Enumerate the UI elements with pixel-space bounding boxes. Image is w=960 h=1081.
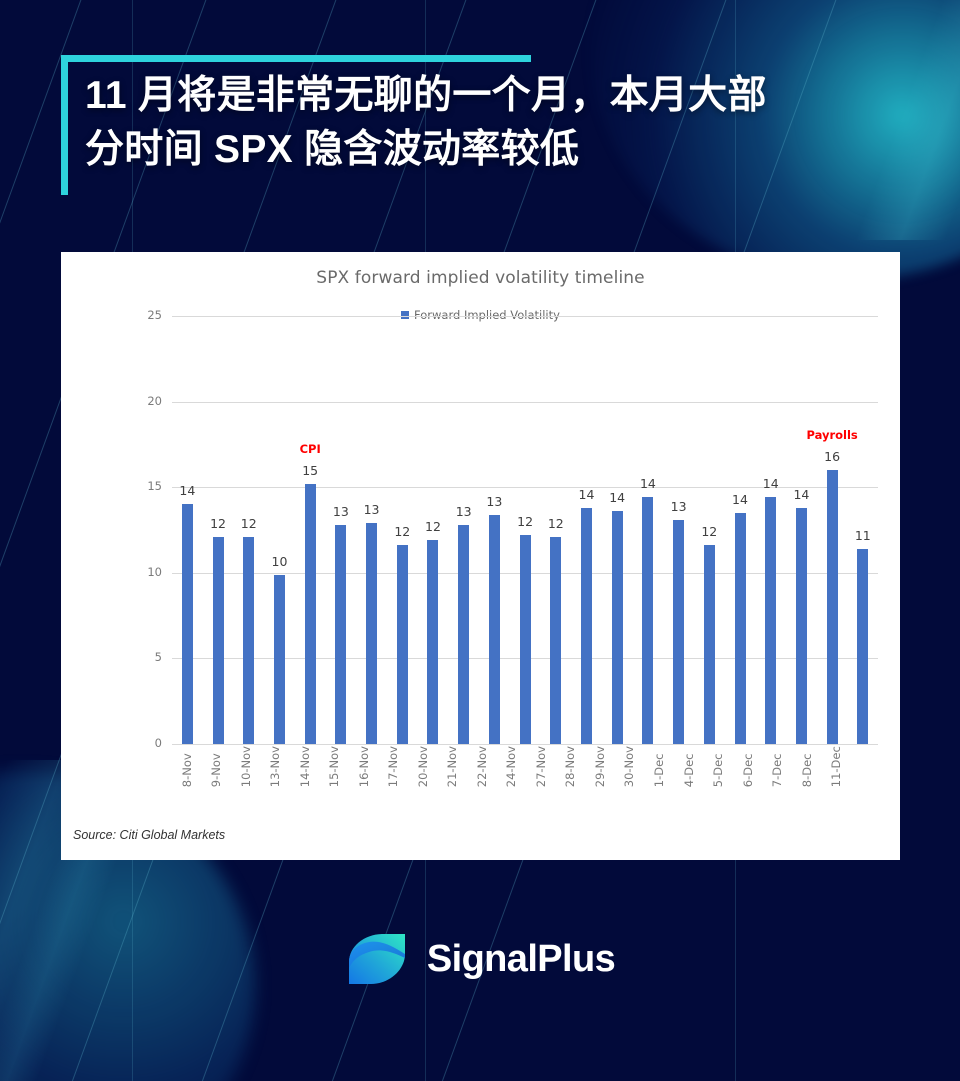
bar-slot[interactable]: 14	[725, 316, 756, 744]
bar-slot[interactable]: 14	[755, 316, 786, 744]
bar[interactable]	[427, 540, 438, 744]
x-axis-tick-label: 15-Nov	[320, 746, 350, 787]
bar[interactable]	[520, 535, 531, 744]
bar[interactable]	[213, 537, 224, 744]
bar[interactable]	[612, 511, 623, 744]
bar-value-label: 14	[732, 492, 748, 507]
bar-value-label: 13	[486, 494, 502, 509]
bar[interactable]	[397, 545, 408, 744]
bar-slot[interactable]: 12	[540, 316, 571, 744]
accent-bar-top	[61, 55, 531, 62]
x-axis-tick-label: 14-Nov	[290, 746, 320, 787]
bar[interactable]	[673, 520, 684, 744]
bar[interactable]	[735, 513, 746, 744]
x-axis-tick-label: 21-Nov	[438, 746, 468, 787]
x-axis-tick-label: 16-Nov	[349, 746, 379, 787]
brand-footer: SignalPlus	[0, 928, 960, 990]
chart-source-note: Source: Citi Global Markets	[73, 828, 225, 842]
bar-value-label: 14	[793, 487, 809, 502]
y-axis-tick-label: 25	[110, 308, 162, 322]
bar-value-label: 14	[179, 483, 195, 498]
bar-slot[interactable]: 12	[694, 316, 725, 744]
bar[interactable]	[796, 508, 807, 744]
bar-slot[interactable]: 12	[233, 316, 264, 744]
bar-slot[interactable]: 14	[786, 316, 817, 744]
bar[interactable]	[857, 549, 868, 744]
bar-value-label: 13	[671, 499, 687, 514]
y-axis-tick-label: 10	[110, 565, 162, 579]
bar[interactable]	[458, 525, 469, 744]
bar-slot[interactable]: 11	[847, 316, 878, 744]
x-axis-tick-label: 28-Nov	[556, 746, 586, 787]
bar-slot[interactable]: 14	[633, 316, 664, 744]
bar-value-label: 14	[579, 487, 595, 502]
bar[interactable]	[489, 515, 500, 744]
bar-slot[interactable]: 13	[356, 316, 387, 744]
bar[interactable]	[581, 508, 592, 744]
page-title: 11 月将是非常无聊的一个月，本月大部 分时间 SPX 隐含波动率较低	[85, 55, 921, 177]
bar[interactable]	[243, 537, 254, 744]
brand-name: SignalPlus	[427, 938, 615, 981]
x-axis-tick-label: 29-Nov	[585, 746, 615, 787]
x-axis-tick-label: 1-Dec	[644, 746, 674, 787]
bar[interactable]	[274, 575, 285, 744]
x-axis-tick-label: 6-Dec	[733, 746, 763, 787]
bar-slot[interactable]: 16Payrolls	[817, 316, 848, 744]
chart-panel: SPX forward implied volatility timeline …	[61, 252, 900, 860]
headline-block: 11 月将是非常无聊的一个月，本月大部 分时间 SPX 隐含波动率较低	[61, 55, 921, 177]
bar-series: 1412121015CPI131312121313121214141413121…	[172, 316, 878, 744]
bar-value-label: 16	[824, 449, 840, 464]
bar-slot[interactable]: 13	[663, 316, 694, 744]
x-axis-tick-label: 13-Nov	[261, 746, 291, 787]
bar-value-label: 12	[210, 516, 226, 531]
bar-slot[interactable]: 13	[326, 316, 357, 744]
bar[interactable]	[827, 470, 838, 744]
bar-value-label: 12	[394, 524, 410, 539]
bar-value-label: 12	[425, 519, 441, 534]
x-axis-tick-label: 20-Nov	[408, 746, 438, 787]
x-axis-tick-label: 9-Nov	[202, 746, 232, 787]
bar[interactable]	[642, 497, 653, 744]
accent-bar-left	[61, 55, 68, 195]
bar-value-label: 13	[456, 504, 472, 519]
bar-value-label: 12	[701, 524, 717, 539]
bar-slot[interactable]: 14	[602, 316, 633, 744]
x-axis-tick-label: 7-Dec	[762, 746, 792, 787]
bar-slot[interactable]: 12	[510, 316, 541, 744]
bar-slot[interactable]: 12	[203, 316, 234, 744]
bar[interactable]	[704, 545, 715, 744]
y-axis-tick-label: 15	[110, 479, 162, 493]
x-axis-tick-label: 4-Dec	[674, 746, 704, 787]
x-axis-tick-label: 8-Nov	[172, 746, 202, 787]
bar-slot[interactable]: 14	[571, 316, 602, 744]
x-axis-tick-label: 8-Dec	[792, 746, 822, 787]
x-axis-tick-label: 27-Nov	[526, 746, 556, 787]
x-axis-line	[172, 744, 851, 745]
bar-value-label: 12	[517, 514, 533, 529]
bar-slot[interactable]: 12	[387, 316, 418, 744]
bar-slot[interactable]: 10	[264, 316, 295, 744]
x-axis-tick-label: 22-Nov	[467, 746, 497, 787]
bar-slot[interactable]: 13	[479, 316, 510, 744]
y-axis-tick-label: 0	[110, 736, 162, 750]
bar[interactable]	[182, 504, 193, 744]
bar[interactable]	[765, 497, 776, 744]
bar-slot[interactable]: 15CPI	[295, 316, 326, 744]
bar-value-label: 13	[333, 504, 349, 519]
bar-value-label: 10	[272, 554, 288, 569]
signalplus-logo-icon	[345, 928, 411, 990]
bar-value-label: 15	[302, 463, 318, 478]
bar-value-label: 14	[640, 476, 656, 491]
x-axis-labels: 8-Nov9-Nov10-Nov13-Nov14-Nov15-Nov16-Nov…	[172, 746, 851, 787]
x-axis-tick-label: 5-Dec	[703, 746, 733, 787]
x-axis-tick-label: 30-Nov	[615, 746, 645, 787]
x-axis-tick-label: 10-Nov	[231, 746, 261, 787]
bar-value-label: 14	[609, 490, 625, 505]
bar-slot[interactable]: 14	[172, 316, 203, 744]
chart-title: SPX forward implied volatility timeline	[61, 268, 900, 288]
x-axis-tick-label: 24-Nov	[497, 746, 527, 787]
chart-annotation: CPI	[300, 442, 321, 456]
bar-slot[interactable]: 12	[418, 316, 449, 744]
bar-value-label: 13	[364, 502, 380, 517]
bar[interactable]	[305, 484, 316, 744]
x-axis-tick-label: 11-Dec	[821, 746, 851, 787]
x-axis-tick-label: 17-Nov	[379, 746, 409, 787]
bar-value-label: 12	[548, 516, 564, 531]
y-axis-tick-label: 5	[110, 650, 162, 664]
bar[interactable]	[366, 523, 377, 744]
y-axis-tick-label: 20	[110, 394, 162, 408]
chart-plot-area: 0510152025 1412121015CPI1313121213131212…	[110, 316, 878, 744]
bar[interactable]	[335, 525, 346, 744]
bar-value-label: 11	[855, 528, 871, 543]
bar-slot[interactable]: 13	[448, 316, 479, 744]
bar[interactable]	[550, 537, 561, 744]
bar-value-label: 12	[241, 516, 257, 531]
bar-value-label: 14	[763, 476, 779, 491]
